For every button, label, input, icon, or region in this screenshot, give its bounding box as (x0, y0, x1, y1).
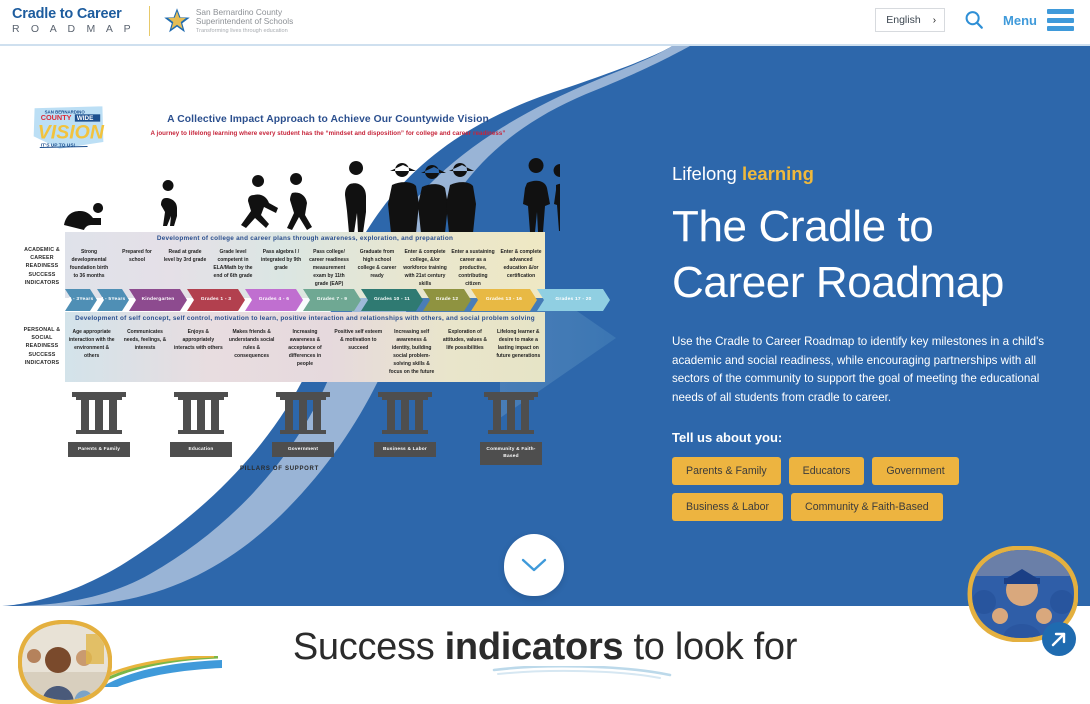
pillar-label: Parents & Family (68, 442, 130, 457)
svg-text:COUNTY: COUNTY (41, 113, 72, 122)
svg-text:VISION: VISION (38, 122, 105, 144)
audience-chip-educators[interactable]: Educators (789, 457, 865, 485)
success-title-post: to look for (623, 626, 797, 668)
audience-chip-community-faith-based[interactable]: Community & Faith-Based (791, 493, 943, 521)
star-icon (162, 6, 192, 36)
social-cell: Positive self esteem & motivation to suc… (332, 328, 385, 377)
svg-text:WIDE: WIDE (77, 115, 94, 122)
hero-description: Use the Cradle to Career Roadmap to iden… (672, 333, 1047, 408)
success-title-bold: indicators (445, 626, 624, 668)
age-stage-label: Grade 12 (423, 289, 471, 311)
age-stage-bar: 0 - 3Years4 - 5YearsKindergartenGrades 1… (65, 289, 610, 311)
audience-chip-group: Parents & Family Educators Government Bu… (672, 457, 1052, 521)
tell-us-about-you-label: Tell us about you: (672, 430, 1052, 445)
pillar-label: Business & Labor (374, 442, 436, 457)
academic-cell: Prepared for school (113, 248, 161, 288)
social-cells: Age appropriate interaction with the env… (65, 328, 545, 377)
logo-line-1: Cradle to Career (12, 7, 135, 22)
social-cell: Communicates needs, feelings, & interest… (118, 328, 171, 377)
search-button[interactable] (963, 9, 985, 31)
pillar-icon (170, 392, 232, 438)
social-cell: Exploration of attitudes, values & life … (438, 328, 491, 377)
age-stage-label: Grades 1 - 3 (187, 289, 245, 311)
back-to-top-button[interactable] (1042, 622, 1076, 656)
age-stage-label: Grades 7 - 9 (303, 289, 361, 311)
academic-cell: Grade level competent in ELA/Math by the… (209, 248, 257, 288)
age-stage-label: Grades 10 - 11 (361, 289, 423, 311)
academic-cell: Enter a sustaining career as a productiv… (449, 248, 497, 288)
life-stage-silhouettes (40, 151, 560, 233)
pillars-of-support: Parents & Family Education Government (60, 392, 560, 462)
logo-line-2: R O A D M A P (12, 24, 135, 35)
chevron-down-icon (520, 557, 548, 573)
pillars-of-support-label: PILLARS OF SUPPORT (240, 466, 319, 472)
sbcss-logo[interactable]: San Bernardino County Superintendent of … (162, 6, 293, 36)
success-title-pre: Success (293, 626, 445, 668)
language-label: English (886, 14, 920, 26)
sbcss-tagline: Transforming lives through education (196, 28, 293, 34)
social-band-title: Development of self concept, self contro… (65, 315, 545, 322)
social-cell: Lifelong learner & desire to make a last… (492, 328, 545, 377)
pillar-icon (374, 392, 436, 438)
age-stage-label: Kindergarten (129, 289, 187, 311)
header-actions: English › Menu (875, 8, 1074, 32)
infographic-heading: A Collective Impact Approach to Achieve … (128, 114, 528, 137)
age-stage-label: Grades 4 - 6 (245, 289, 303, 311)
pillar-label: Education (170, 442, 232, 457)
social-cell: Increasing self awareness & identity, bu… (385, 328, 438, 377)
menu-label: Menu (1003, 13, 1037, 28)
audience-chip-government[interactable]: Government (872, 457, 958, 485)
academic-cell: Graduate from high school college & care… (353, 248, 401, 288)
academic-cell: Enter & complete college, &/or workforce… (401, 248, 449, 288)
infographic-subhead: A journey to lifelong learning where eve… (128, 130, 528, 137)
audience-chip-business-labor[interactable]: Business & Labor (672, 493, 783, 521)
academic-cell: Enter & complete advanced education &/or… (497, 248, 545, 288)
cradle-to-career-logo[interactable]: Cradle to Career R O A D M A P (12, 7, 135, 35)
site-header: Cradle to Career R O A D M A P San Berna… (0, 0, 1090, 46)
roadmap-infographic: SAN BERNARDINO COUNTY WIDE VISION IT'S U… (0, 46, 660, 516)
academic-row-label: ACADEMIC & CAREER READINESS SUCCESS INDI… (20, 246, 64, 287)
menu-button[interactable]: Menu (1003, 9, 1074, 31)
age-stage-label: 4 - 5Years (97, 289, 129, 311)
title-underline-swoosh (492, 666, 672, 680)
pillar-of-support: Community & Faith-Based (480, 392, 542, 465)
countywide-vision-logo: SAN BERNARDINO COUNTY WIDE VISION IT'S U… (30, 102, 108, 152)
classroom-students-photo (18, 620, 112, 704)
site-logo[interactable]: Cradle to Career R O A D M A P San Berna… (12, 6, 293, 36)
pillar-icon (480, 392, 542, 438)
sbcss-line-2: Superintendent of Schools (196, 17, 293, 26)
scroll-down-button[interactable] (504, 534, 564, 596)
social-cell: Enjoys & appropriately interacts with ot… (172, 328, 225, 377)
social-cell: Age appropriate interaction with the env… (65, 328, 118, 377)
academic-cell: Strong developmental foundation birth to… (65, 248, 113, 288)
logo-divider (149, 6, 150, 36)
pillar-label: Community & Faith-Based (480, 442, 542, 465)
hero-title-line-1: The Cradle to (672, 199, 1052, 255)
hamburger-menu-icon (1047, 9, 1074, 31)
success-indicators-section: Success indicators to look for (0, 606, 1090, 687)
academic-cell: Read at grade level by 3rd grade (161, 248, 209, 288)
pillar-of-support: Parents & Family (68, 392, 130, 457)
chevron-right-icon: › (933, 15, 936, 26)
academic-band-title: Development of college and career plans … (65, 235, 545, 242)
pillar-of-support: Business & Labor (374, 392, 436, 457)
age-stage-label: Grades 13 - 16 (471, 289, 537, 311)
social-row-label: PERSONAL & SOCIAL READINESS SUCCESS INDI… (20, 326, 64, 367)
infographic-headline: A Collective Impact Approach to Achieve … (128, 114, 528, 125)
pillar-of-support: Education (170, 392, 232, 457)
age-stage-label: Grades 17 - 20 (537, 289, 610, 311)
search-icon (963, 9, 985, 31)
social-cell: Increasing awareness & acceptance of dif… (278, 328, 331, 377)
hero-eyebrow-plain: Lifelong (672, 163, 742, 184)
decorative-color-stripes (94, 656, 224, 687)
hero-eyebrow: Lifelong learning (672, 163, 1052, 185)
academic-cell: Pass college/ career readiness measureme… (305, 248, 353, 288)
social-cell: Makes friends & understands social rules… (225, 328, 278, 377)
hero-copy: Lifelong learning The Cradle to Career R… (672, 163, 1052, 521)
language-selector[interactable]: English › (875, 8, 945, 32)
academic-cell: Pass algebra I / integrated by 9th grade (257, 248, 305, 288)
age-stage-label: 0 - 3Years (65, 289, 97, 311)
pillar-label: Government (272, 442, 334, 457)
hero-eyebrow-accent: learning (742, 163, 814, 184)
arrow-up-right-icon (1050, 630, 1068, 648)
pillar-icon (272, 392, 334, 438)
hero-title: The Cradle to Career Roadmap (672, 199, 1052, 311)
pillar-icon (68, 392, 130, 438)
academic-cells: Strong developmental foundation birth to… (65, 248, 545, 288)
social-band: Development of self concept, self contro… (65, 312, 545, 382)
audience-chip-parents-family[interactable]: Parents & Family (672, 457, 781, 485)
hero-title-line-2: Career Roadmap (672, 255, 1052, 311)
pillar-of-support: Government (272, 392, 334, 457)
